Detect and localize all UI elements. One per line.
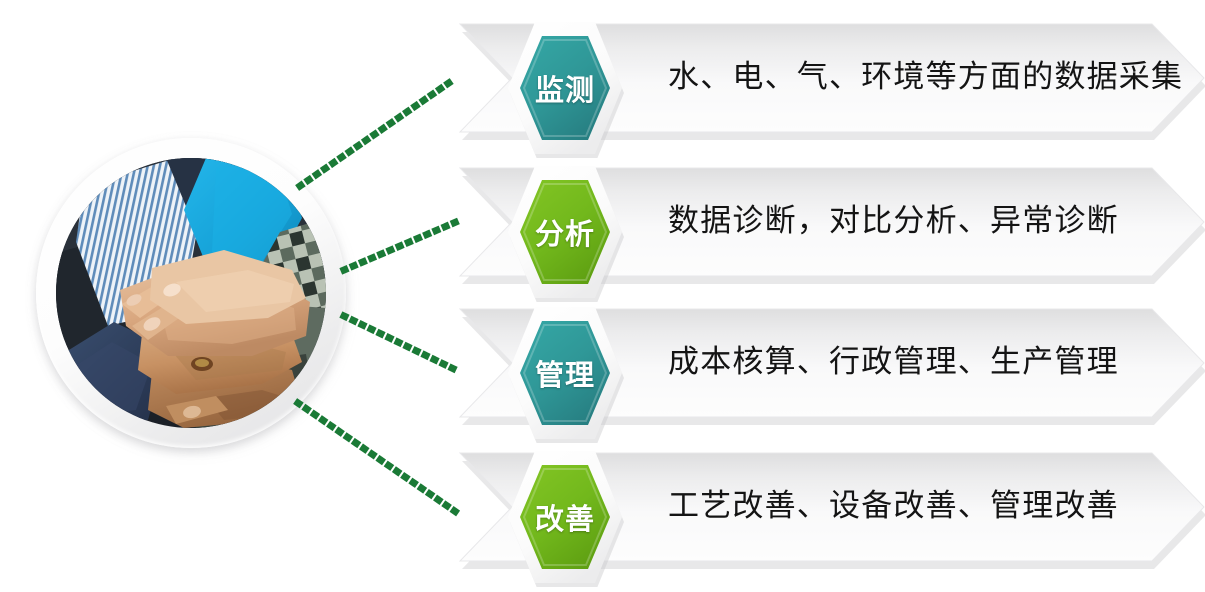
stage-badge-label-2: 分析 — [504, 162, 626, 302]
stage-badge-1[interactable]: 监测 — [504, 18, 626, 158]
stage-description-4: 工艺改善、设备改善、管理改善 — [668, 447, 1119, 565]
stage-description-2: 数据诊断，对比分析、异常诊断 — [668, 162, 1119, 280]
process-row-3[interactable]: 管理 成本核算、行政管理、生产管理 — [452, 303, 1205, 448]
stage-badge-3[interactable]: 管理 — [504, 303, 626, 443]
photo-image — [56, 158, 326, 428]
process-row-2[interactable]: 分析 数据诊断，对比分析、异常诊断 — [452, 162, 1205, 307]
infographic-canvas: 监测 水、电、气、环境等方面的数据采集 — [0, 0, 1205, 580]
stage-badge-2[interactable]: 分析 — [504, 162, 626, 302]
stage-badge-label-1: 监测 — [504, 18, 626, 158]
teamwork-photo-circle — [36, 138, 346, 448]
connector-line-3 — [344, 316, 456, 370]
process-row-1[interactable]: 监测 水、电、气、环境等方面的数据采集 — [452, 18, 1205, 163]
stage-description-3: 成本核算、行政管理、生产管理 — [668, 303, 1119, 421]
process-row-4[interactable]: 改善 工艺改善、设备改善、管理改善 — [452, 447, 1205, 592]
connector-line-2 — [344, 222, 456, 270]
stage-badge-4[interactable]: 改善 — [504, 447, 626, 587]
stage-badge-label-4: 改善 — [504, 447, 626, 587]
stage-badge-label-3: 管理 — [504, 303, 626, 443]
stage-description-1: 水、电、气、环境等方面的数据采集 — [668, 18, 1183, 136]
